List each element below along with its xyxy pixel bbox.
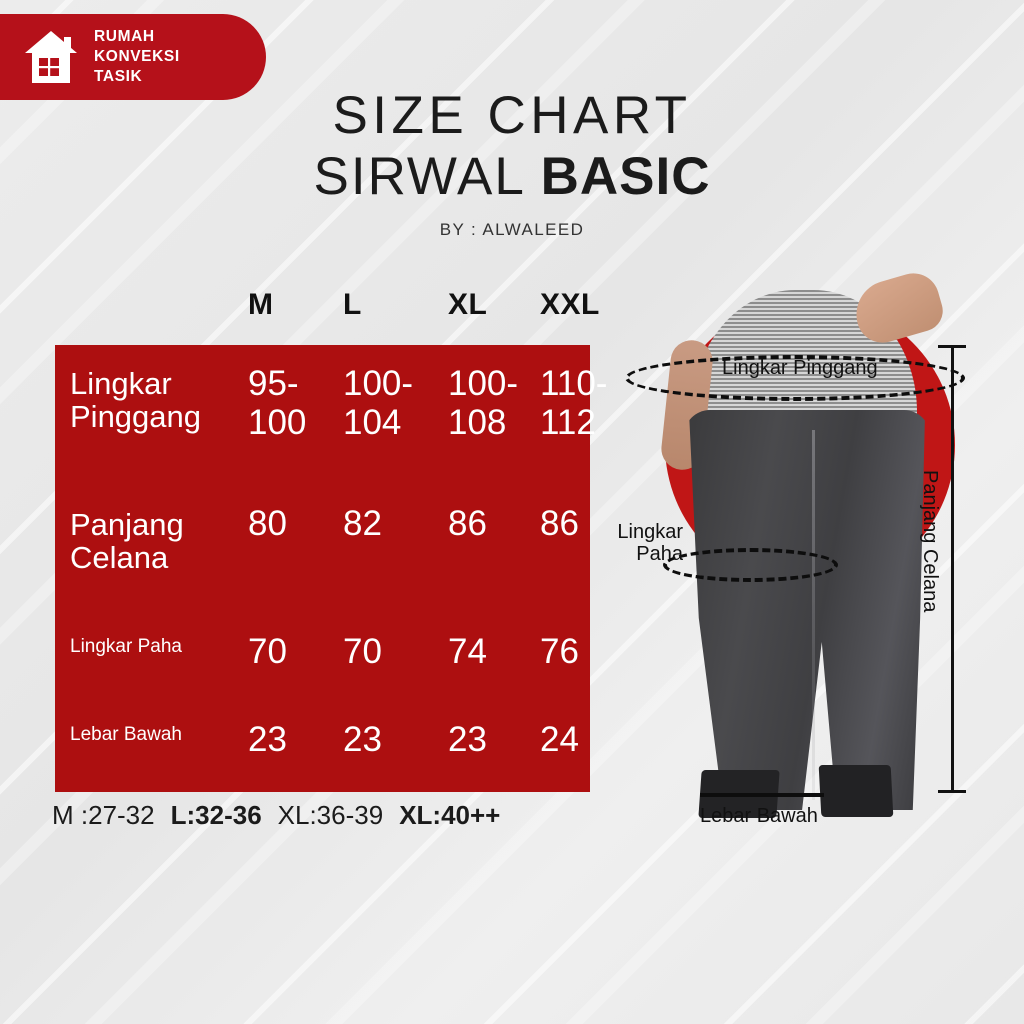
table-cell: 76 <box>540 633 579 672</box>
title-subtitle: BY : ALWALEED <box>0 220 1024 240</box>
label-lingkar-paha: Lingkar Paha <box>603 521 683 565</box>
label-panjang-celana: Panjang Celana <box>918 470 941 612</box>
pant-crease <box>812 430 815 800</box>
label-lingkar-pinggang: Lingkar Pinggang <box>722 357 878 379</box>
row-label-line1: Lingkar <box>70 367 201 400</box>
table-cell: 100-108 <box>448 365 518 442</box>
size-conversion-item: XL:40++ <box>399 800 500 830</box>
row-label: Lingkar Paha <box>70 637 182 658</box>
brand-name: RUMAH KONVEKSI TASIK <box>94 27 180 86</box>
table-cell: 24 <box>540 721 579 760</box>
brand-name-line2: KONVEKSI <box>94 47 180 67</box>
length-measure-line <box>951 345 954 793</box>
size-header-l: L <box>343 288 362 322</box>
size-conversion-footer: M :27-32L:32-36XL:36-39XL:40++ <box>52 800 612 831</box>
row-label-line1: Lingkar Paha <box>70 637 182 658</box>
thigh-measure-ellipse <box>663 548 838 582</box>
row-label-line1: Panjang <box>70 508 184 541</box>
table-cell: 23 <box>343 721 382 760</box>
size-column-headers: MLXLXXL <box>55 288 590 332</box>
size-conversion-item: L:32-36 <box>171 800 262 830</box>
row-label: LingkarPinggang <box>70 367 201 434</box>
cell-value-line1: 110- <box>540 365 607 404</box>
table-cell: 100-104 <box>343 365 413 442</box>
table-cell: 23 <box>448 721 487 760</box>
table-cell: 95-100 <box>248 365 306 442</box>
row-label: Lebar Bawah <box>70 725 182 746</box>
cell-value-line1: 23 <box>343 721 382 760</box>
house-icon <box>22 28 80 86</box>
title-size-chart: SIZE CHART <box>0 88 1024 144</box>
row-label-line1: Lebar Bawah <box>70 725 182 746</box>
table-cell: 23 <box>248 721 287 760</box>
cell-value-line1: 82 <box>343 505 382 544</box>
cell-value-line1: 95- <box>248 365 306 404</box>
cell-value-line2: 112 <box>540 404 607 443</box>
cell-value-line2: 104 <box>343 404 413 443</box>
cell-value-line2: 108 <box>448 404 518 443</box>
table-cell: 86 <box>448 505 487 544</box>
title-product-light: SIRWAL <box>314 147 541 206</box>
table-cell: 70 <box>248 633 287 672</box>
cell-value-line1: 86 <box>540 505 579 544</box>
cell-value-line1: 86 <box>448 505 487 544</box>
title-product: SIRWAL BASIC <box>0 146 1024 209</box>
cell-value-line1: 76 <box>540 633 579 672</box>
label-lingkar-paha-line2: Paha <box>603 543 683 565</box>
pant-cuff-right <box>819 765 894 817</box>
label-lebar-bawah: Lebar Bawah <box>700 805 818 827</box>
brand-name-line3: TASIK <box>94 67 180 87</box>
table-cell: 70 <box>343 633 382 672</box>
cell-value-line1: 70 <box>343 633 382 672</box>
table-cell: 82 <box>343 505 382 544</box>
cell-value-line1: 23 <box>248 721 287 760</box>
size-header-xxl: XXL <box>540 288 600 322</box>
cell-value-line1: 70 <box>248 633 287 672</box>
label-lingkar-paha-line1: Lingkar <box>603 521 683 543</box>
cell-value-line2: 100 <box>248 404 306 443</box>
size-header-m: M <box>248 288 274 322</box>
size-conversion-item: M :27-32 <box>52 800 155 830</box>
brand-name-line1: RUMAH <box>94 27 180 47</box>
length-cap-bottom <box>938 790 966 793</box>
page-title: SIZE CHART SIRWAL BASIC BY : ALWALEED <box>0 88 1024 240</box>
cell-value-line1: 80 <box>248 505 287 544</box>
table-cell: 80 <box>248 505 287 544</box>
size-header-xl: XL <box>448 288 487 322</box>
table-cell: 110-112 <box>540 365 607 442</box>
cell-value-line1: 100- <box>343 365 413 404</box>
title-product-bold: BASIC <box>541 147 711 206</box>
measurement-table: LingkarPinggang95-100100-104100-108110-1… <box>55 345 590 792</box>
size-conversion-item: XL:36-39 <box>278 800 384 830</box>
model-pants <box>684 410 930 810</box>
row-label-line2: Celana <box>70 541 184 574</box>
cell-value-line1: 100- <box>448 365 518 404</box>
cell-value-line1: 23 <box>448 721 487 760</box>
cell-value-line1: 74 <box>448 633 487 672</box>
row-label-line2: Pinggang <box>70 400 201 433</box>
row-label: PanjangCelana <box>70 508 184 575</box>
cell-value-line1: 24 <box>540 721 579 760</box>
bottom-width-rule <box>700 793 824 797</box>
table-cell: 86 <box>540 505 579 544</box>
table-cell: 74 <box>448 633 487 672</box>
